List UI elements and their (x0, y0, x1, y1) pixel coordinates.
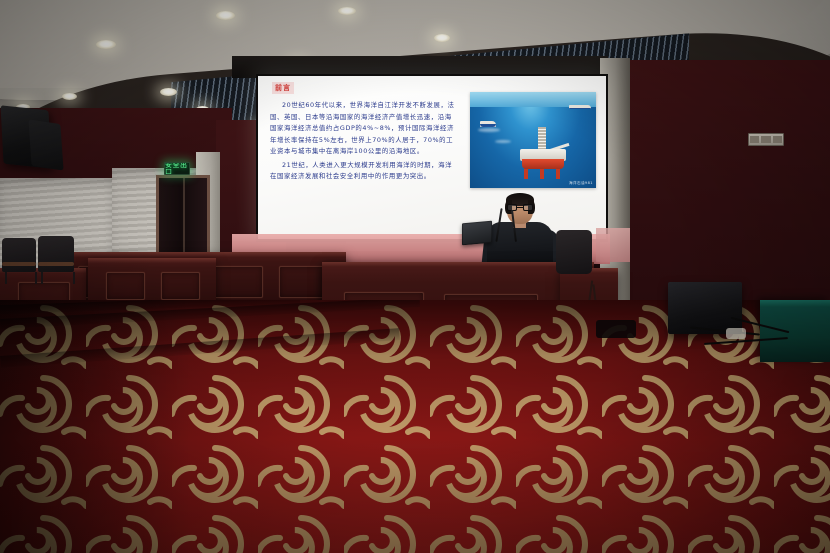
slide-paragraph-1: 20世纪60年代以来，世界海洋自江洋开发不断发展，法国、英国、日本等沿海国家的海… (270, 100, 455, 158)
slide-photo-oil-platform: 海洋石油981 (470, 92, 596, 188)
downlight-7 (434, 34, 450, 42)
desk-row-1-top-edge (60, 252, 346, 257)
slide-heading: 前言 (272, 82, 294, 94)
oil-platform-icon (520, 127, 566, 173)
supply-vessel-2 (569, 105, 591, 109)
chair-1[interactable] (2, 238, 36, 272)
slide-photo-caption: 海洋石油981 (569, 181, 593, 186)
slide-paragraph-2: 21世纪，人类进入更大规模开发利用海洋的时期，海洋在国家经济发展和社会安全利用中… (270, 160, 455, 183)
exit-sign-label: 安全出口 (165, 162, 189, 175)
downlight-11 (338, 7, 356, 15)
conference-room-photo: 安全出口 前言 20世纪60年代以来，世界海洋自江洋开发不断发展，法国、英国、日… (0, 0, 830, 553)
screen-lower-backdrop-right (596, 228, 630, 262)
presenter-laptop[interactable] (462, 221, 492, 246)
downlight-5 (62, 93, 77, 100)
wall-switch-plate-icon[interactable] (748, 133, 784, 146)
downlight-2 (216, 11, 235, 20)
projection-screen-surface: 前言 20世纪60年代以来，世界海洋自江洋开发不断发展，法国、英国、日本等沿海国… (258, 76, 606, 239)
floor-cables (690, 322, 810, 356)
desk-row-4-panel-1 (106, 272, 145, 300)
downlight-1 (96, 40, 116, 49)
podium-top-edge (322, 262, 594, 267)
chair-1-legs (5, 272, 38, 284)
projection-screen: 前言 20世纪60年代以来，世界海洋自江洋开发不断发展，法国、英国、日本等沿海国… (256, 74, 608, 242)
desk-row-4-top-edge (88, 258, 216, 263)
pa-speaker-secondary-icon (28, 119, 63, 170)
slide-body-text: 20世纪60年代以来，世界海洋自江洋开发不断发展，法国、英国、日本等沿海国家的海… (270, 100, 455, 185)
carpet-left-shadow (0, 300, 190, 553)
chair-2[interactable] (38, 236, 74, 272)
chair-1-armrest (2, 262, 36, 266)
desk-row-1-panel-3 (212, 266, 263, 298)
downlight-4 (160, 88, 177, 96)
vessel-wake-1 (478, 128, 500, 132)
vessel-wake-2 (495, 140, 511, 143)
green-table-top-edge (760, 300, 830, 307)
exit-sign-icon: 安全出口 (164, 162, 190, 175)
desk-row-4-panel-2 (161, 272, 200, 300)
chair-2-legs (41, 272, 75, 284)
supply-vessel-1 (480, 121, 496, 127)
chair-2-armrest (38, 262, 74, 266)
dark-equipment-blob (596, 320, 636, 338)
